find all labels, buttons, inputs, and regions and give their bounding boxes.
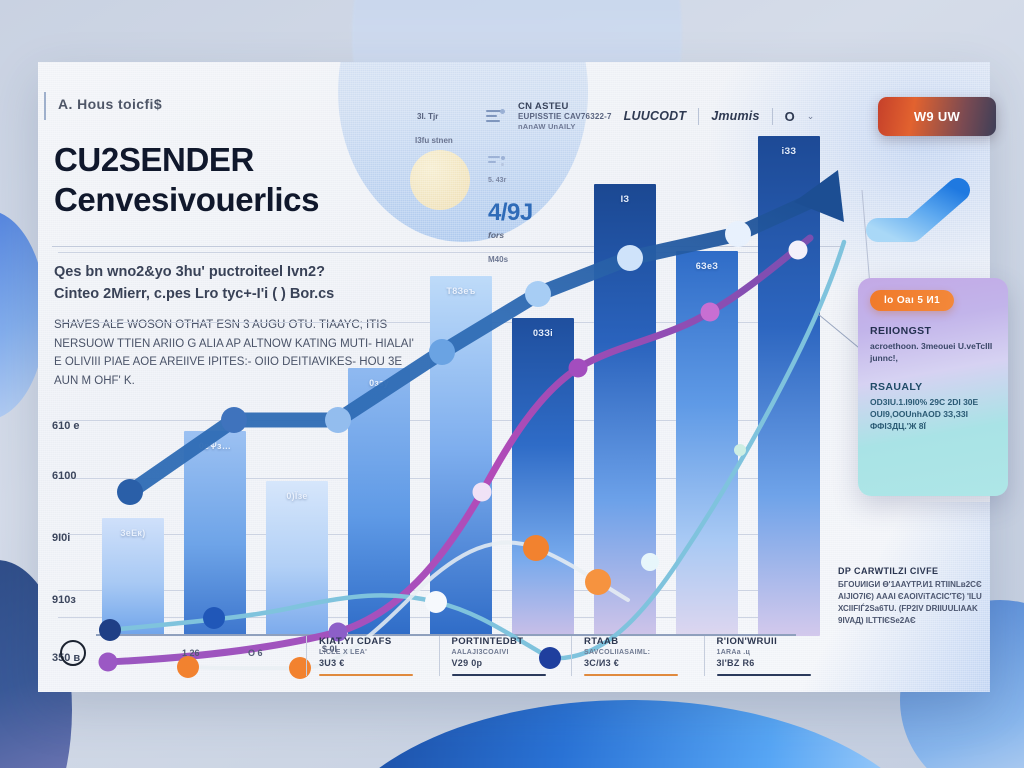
stat-accent-bar-1: [452, 674, 546, 676]
bar-6[interactable]: ІЗ: [594, 184, 656, 636]
nav-item-0[interactable]: LUUCODT: [624, 109, 687, 123]
bar-5[interactable]: 0ЗЗі: [512, 318, 574, 636]
brand-logo-icon: [486, 108, 506, 124]
stat-block-1[interactable]: PORTINTEDBT AALAJI3COAIVI V29 0р: [439, 636, 562, 676]
metric-value: 4/9J: [488, 199, 533, 227]
bar-0[interactable]: 3еEк): [102, 518, 164, 636]
x-tick-1: O 6: [248, 648, 263, 658]
stat-title-3: R'ION'WRUIІ: [717, 636, 827, 647]
insight-card[interactable]: lo Oaı 5 И1 REIIONGST acroethoon. 3meouе…: [858, 278, 1008, 496]
bar-2[interactable]: 0)Їзе: [266, 481, 328, 636]
insight-paragraph-2: OD3IU.1.I9I0% 29C 2DI 30Е OUI9,OOUnhAOD …: [870, 396, 996, 433]
bar-label-7: 6ЗеЗ: [676, 261, 738, 271]
stat-value-0: 3U3 €: [319, 658, 429, 668]
stat-accent-bar-3: [717, 674, 811, 676]
stat-block-0[interactable]: KIAT.YI CDAFS L.CLE Х LЕА' 3U3 €: [306, 636, 429, 676]
stat-block-3[interactable]: R'ION'WRUIІ 1ARAа .ц 3I'BZ R6: [704, 636, 827, 676]
background-blob-bottom: [320, 700, 940, 768]
bar-label-6: ІЗ: [594, 194, 656, 204]
stat-subtitle-3: 1ARAа .ц: [717, 649, 827, 656]
brand-line-1: CN ASTEU: [518, 101, 612, 113]
insight-paragraph-1: acroethoon. 3meouеі U.veTcIII junnc!,: [870, 340, 996, 365]
bar-label-4: T8Зеъ: [430, 286, 492, 296]
bar-label-8: іЗЗ: [758, 146, 820, 156]
metric-tiny-label: 5. 43r: [488, 177, 533, 186]
stat-subtitle-1: AALAJI3COAIVI: [452, 649, 562, 656]
bar-label-0: 3еEк): [102, 528, 164, 538]
page-kicker: A. Hous toicfi$: [58, 96, 162, 112]
insight-badge: lo Oaı 5 И1: [870, 290, 954, 311]
stat-title-1: PORTINTEDBT: [452, 636, 562, 647]
footnote-heading: DP CARWTILZI CIVFE: [838, 566, 988, 576]
bar-label-1: 0еѰз…: [184, 441, 246, 451]
bar-label-3: 0ззу: [348, 378, 410, 388]
bar-7[interactable]: 6ЗеЗ: [676, 251, 738, 636]
x-tick-0: 1 26: [182, 648, 200, 658]
stat-accent-bar-0: [319, 674, 413, 676]
primary-cta-button[interactable]: W9 UW: [878, 97, 996, 136]
circle-annotation-secondary: I3fu stnen: [415, 136, 453, 145]
nav-divider-2: [772, 108, 773, 125]
brand-line-3: nAnAW UnAILY: [518, 122, 612, 131]
stat-value-1: V29 0р: [452, 658, 562, 668]
stat-subtitle-0: L.CLE Х LЕА': [319, 649, 429, 656]
bar-4[interactable]: T8Зеъ: [430, 276, 492, 636]
top-navigation: CN ASTEU EUPISSTIE CAV76322-7 nAnAW UnAI…: [486, 92, 996, 140]
stat-block-2[interactable]: RTAAB SAVCOLIIASAIML: 3C/И3 €: [571, 636, 694, 676]
origin-marker-icon: [60, 640, 86, 666]
stat-accent-bar-2: [584, 674, 678, 676]
chevron-down-icon[interactable]: ⌄: [807, 111, 815, 122]
bar-8[interactable]: іЗЗ: [758, 136, 820, 636]
footnote-paragraph: БГOUИIGИ Ѳ'1AAYTP.И1 RTIINLв2СЄ АІJIO7IЄ…: [838, 579, 988, 627]
bar-label-2: 0)Їзе: [266, 491, 328, 501]
page-title: CU2SENDER Cenvesivouerlics: [54, 140, 474, 221]
nav-item-1[interactable]: Jmumis: [711, 109, 759, 123]
user-avatar-icon[interactable]: O: [785, 109, 795, 124]
bar-series: 3еEк) 0еѰз… 0)Їзе 0ззу T8Зеъ 0ЗЗі ІЗ 6Зе…: [96, 232, 796, 636]
metric-list-icon: [488, 156, 506, 168]
stat-value-2: 3C/И3 €: [584, 658, 694, 668]
brand-text: CN ASTEU EUPISSTIE CAV76322-7 nAnAW UnAI…: [518, 101, 612, 131]
bar-3[interactable]: 0ззу: [348, 368, 410, 636]
stat-title-2: RTAAB: [584, 636, 694, 647]
nav-divider-1: [698, 108, 699, 125]
checkmark-shape-decoration: [866, 178, 986, 250]
bar-1[interactable]: 0еѰз…: [184, 431, 246, 636]
bar-label-5: 0ЗЗі: [512, 328, 574, 338]
insight-heading-2: RSAUALY: [870, 381, 996, 393]
circle-annotation-primary: 3I. Tjr: [417, 112, 438, 121]
stat-legend-row: KIAT.YI CDAFS L.CLE Х LЕА' 3U3 € PORTINT…: [306, 636, 826, 676]
stat-title-0: KIAT.YI CDAFS: [319, 636, 429, 647]
stat-value-3: 3I'BZ R6: [717, 658, 827, 668]
kicker-accent-bar: [44, 92, 46, 120]
insight-heading-1: REIIONGST: [870, 325, 996, 337]
brand-line-2: EUPISSTIE CAV76322-7: [518, 112, 612, 122]
footnote-block: DP CARWTILZI CIVFE БГOUИIGИ Ѳ'1AAYTP.И1 …: [838, 566, 988, 627]
stat-subtitle-2: SAVCOLIIASAIML:: [584, 649, 694, 656]
